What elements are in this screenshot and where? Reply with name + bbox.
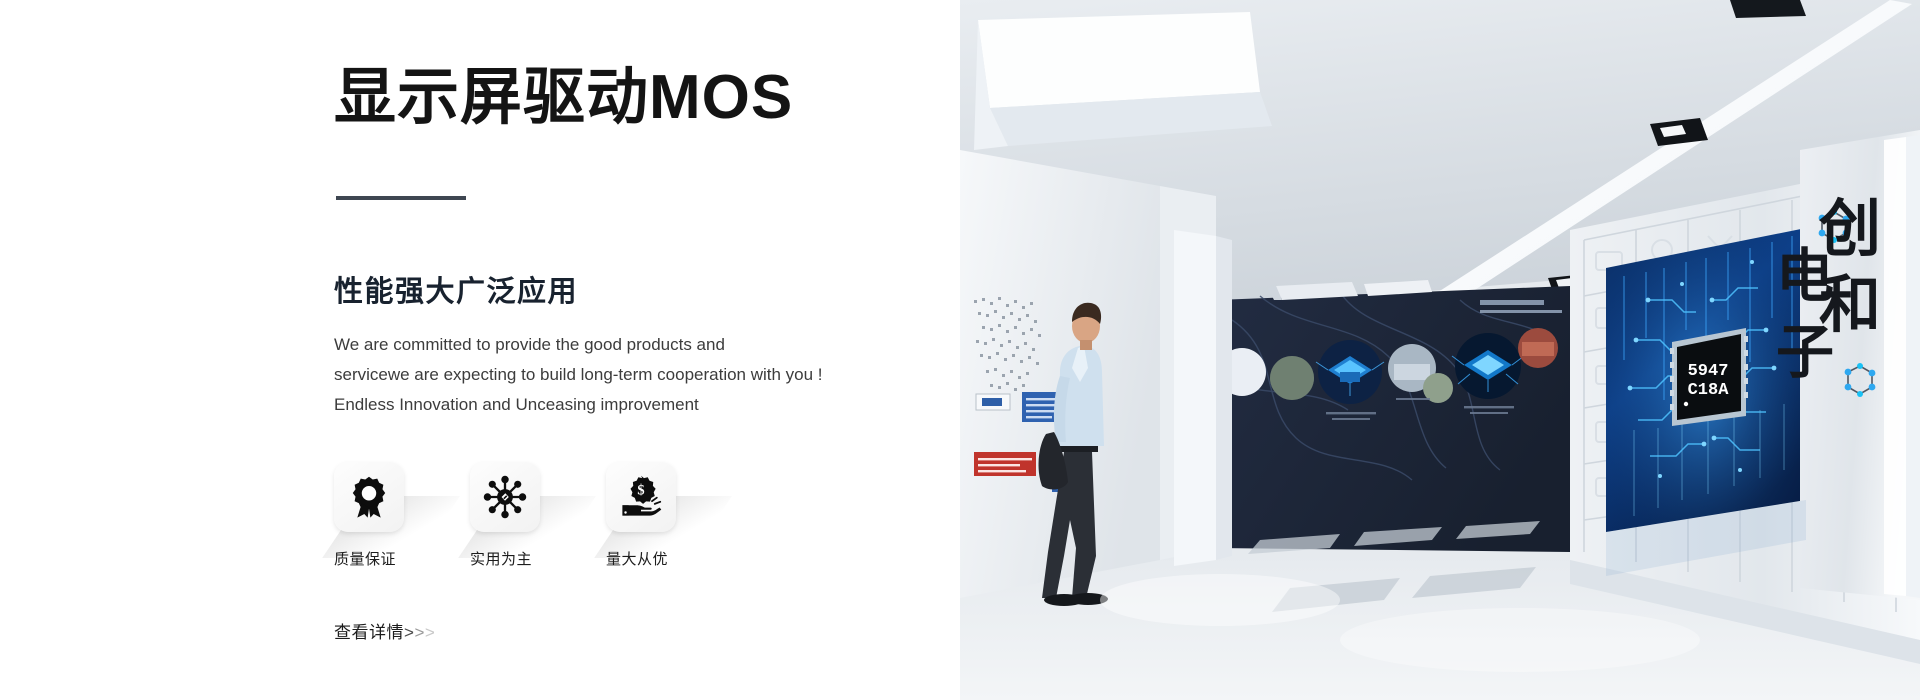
description-line-3: Endless Innovation and Unceasing improve… xyxy=(334,390,894,420)
hero-banner: 显示屏驱动MOS 性能强大广泛应用 We are committed to pr… xyxy=(0,0,1920,700)
chevron-3-icon: > xyxy=(425,623,435,642)
title-divider xyxy=(336,196,466,200)
hand-money-icon: $ xyxy=(619,475,663,519)
showroom-photo: 5947 C18A xyxy=(960,0,1920,700)
view-details-link[interactable]: 查看详情>>> xyxy=(334,618,435,643)
feature-tile: $ xyxy=(606,462,676,532)
svg-text:$: $ xyxy=(637,482,644,498)
feature-list: 质量保证 xyxy=(334,462,684,569)
chevron-2-icon: > xyxy=(414,623,424,642)
feature-tile xyxy=(334,462,404,532)
feature-label: 实用为主 xyxy=(470,548,532,569)
award-badge-icon xyxy=(347,475,391,519)
feature-item-practical[interactable]: 实用为主 xyxy=(470,462,548,569)
showroom-illustration: 5947 C18A xyxy=(960,0,1920,700)
feature-tile xyxy=(470,462,540,532)
chevron-1-icon: > xyxy=(404,623,414,642)
left-text-panel: 显示屏驱动MOS 性能强大广泛应用 We are committed to pr… xyxy=(0,0,960,700)
description-line-2: servicewe are expecting to build long-te… xyxy=(334,360,894,390)
led-chip-line2: C18A xyxy=(1688,381,1730,400)
feature-label: 质量保证 xyxy=(334,548,396,569)
feature-item-quality[interactable]: 质量保证 xyxy=(334,462,412,569)
sign-char-dian: 电 xyxy=(1776,242,1834,310)
sign-char-zi: 子 xyxy=(1776,318,1834,386)
page-title: 显示屏驱动MOS xyxy=(334,62,793,133)
description-paragraph: We are committed to provide the good pro… xyxy=(334,330,894,420)
description-line-1: We are committed to provide the good pro… xyxy=(334,330,894,360)
subtitle: 性能强大广泛应用 xyxy=(334,268,578,310)
feature-label: 量大从优 xyxy=(606,548,668,569)
led-chip-line1: 5947 xyxy=(1688,362,1729,381)
feature-item-bulk-discount[interactable]: $ 量大从优 xyxy=(606,462,684,569)
view-details-label: 查看详情 xyxy=(334,623,404,642)
network-hub-icon xyxy=(483,475,527,519)
